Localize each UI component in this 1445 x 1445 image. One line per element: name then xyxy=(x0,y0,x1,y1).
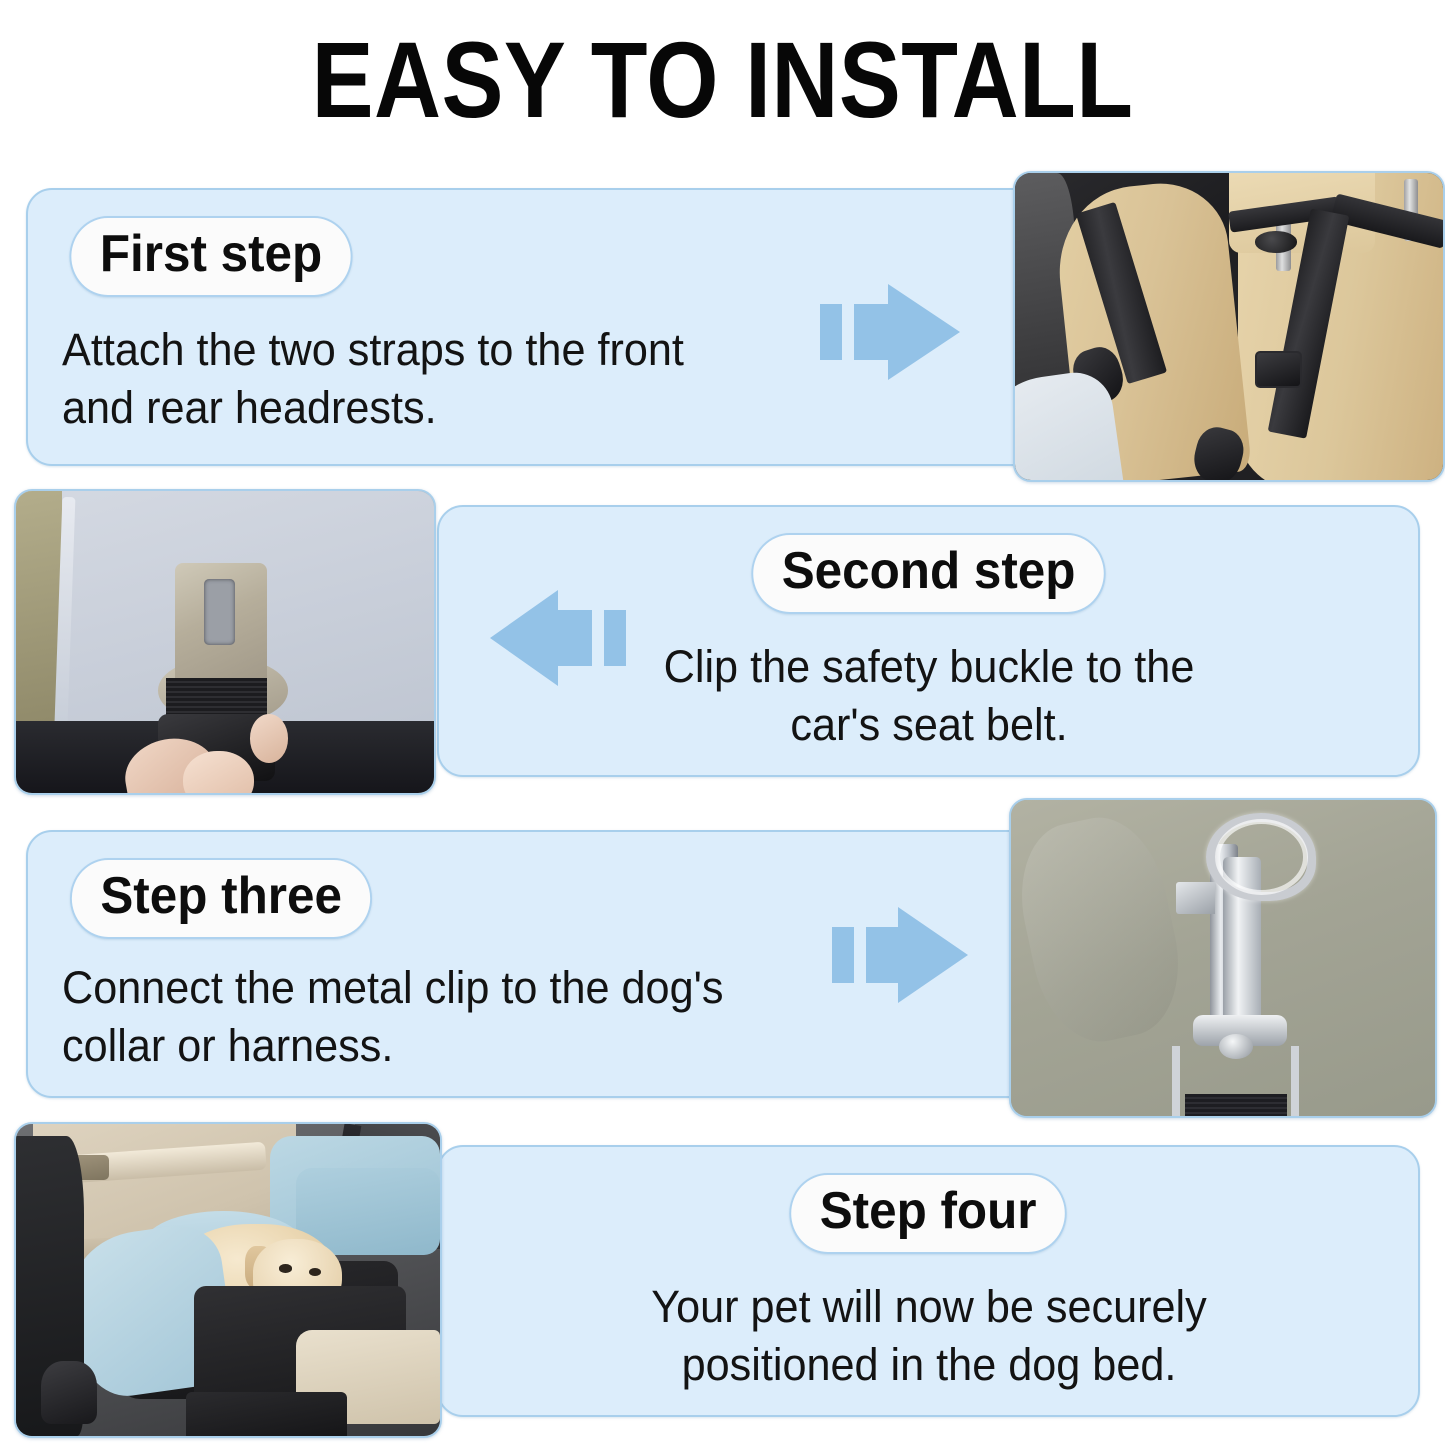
puppy-in-dog-car-seat-photo xyxy=(16,1124,440,1436)
step-1-photo xyxy=(1013,171,1445,482)
step-4-badge: Step four xyxy=(790,1173,1068,1254)
step-2-badge: Second step xyxy=(751,533,1106,614)
step-panel-4: Step four Your pet will now be securely … xyxy=(437,1145,1420,1417)
step-4-photo xyxy=(14,1122,442,1438)
arrow-right-icon xyxy=(820,282,962,382)
step-4-content: Step four Your pet will now be securely … xyxy=(439,1147,1418,1415)
arrow-left-icon xyxy=(488,588,626,688)
seat-belt-buckle-in-hand-photo xyxy=(16,491,434,793)
step-1-badge: First step xyxy=(69,216,352,297)
infographic-root: EASY TO INSTALL First step Attach the tw… xyxy=(0,0,1445,1445)
metal-snap-hook-photo xyxy=(1011,800,1435,1116)
step-2-description: Clip the safety buckle to the car's seat… xyxy=(631,638,1226,753)
step-3-photo xyxy=(1009,798,1437,1118)
step-2-photo xyxy=(14,489,436,795)
page-title: EASY TO INSTALL xyxy=(101,26,1344,134)
step-1-description: Attach the two straps to the front and r… xyxy=(62,321,734,436)
step-4-description: Your pet will now be securely positioned… xyxy=(621,1278,1235,1393)
step-3-badge: Step three xyxy=(70,858,372,939)
car-headrests-with-straps-photo xyxy=(1015,173,1443,480)
step-3-description: Connect the metal clip to the dog's coll… xyxy=(62,959,763,1074)
arrow-right-icon xyxy=(832,905,970,1005)
